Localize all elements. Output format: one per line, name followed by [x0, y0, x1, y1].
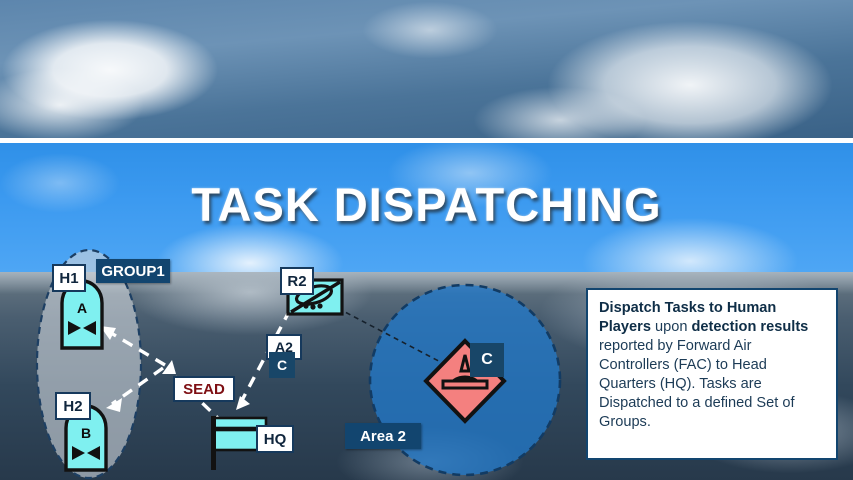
- unit-label-hq[interactable]: HQ: [256, 425, 294, 453]
- unit-label-r2[interactable]: R2: [280, 267, 314, 295]
- info-tail: reported by Forward Air Controllers (FAC…: [599, 338, 795, 430]
- info-mid-bold: detection results: [692, 319, 809, 335]
- svg-text:A: A: [77, 300, 87, 316]
- c-marker-icon-sam[interactable]: C: [470, 343, 504, 377]
- unit-label-h1[interactable]: H1: [52, 264, 86, 292]
- slide-canvas: TASK DISPATCHING A: [0, 0, 853, 480]
- task-label-sead[interactable]: SEAD: [173, 376, 235, 402]
- info-panel: Dispatch Tasks to Human Players upon det…: [586, 288, 838, 460]
- group-banner-group1[interactable]: GROUP1: [96, 259, 170, 283]
- info-mid-plain: upon: [651, 319, 692, 335]
- info-panel-text: Dispatch Tasks to Human Players upon det…: [599, 299, 825, 432]
- c-marker-icon-a2[interactable]: C: [269, 352, 295, 378]
- arrowhead-junction: [162, 360, 176, 374]
- svg-text:B: B: [81, 425, 91, 441]
- unit-label-h2[interactable]: H2: [55, 392, 91, 420]
- area-banner-area2[interactable]: Area 2: [345, 423, 421, 449]
